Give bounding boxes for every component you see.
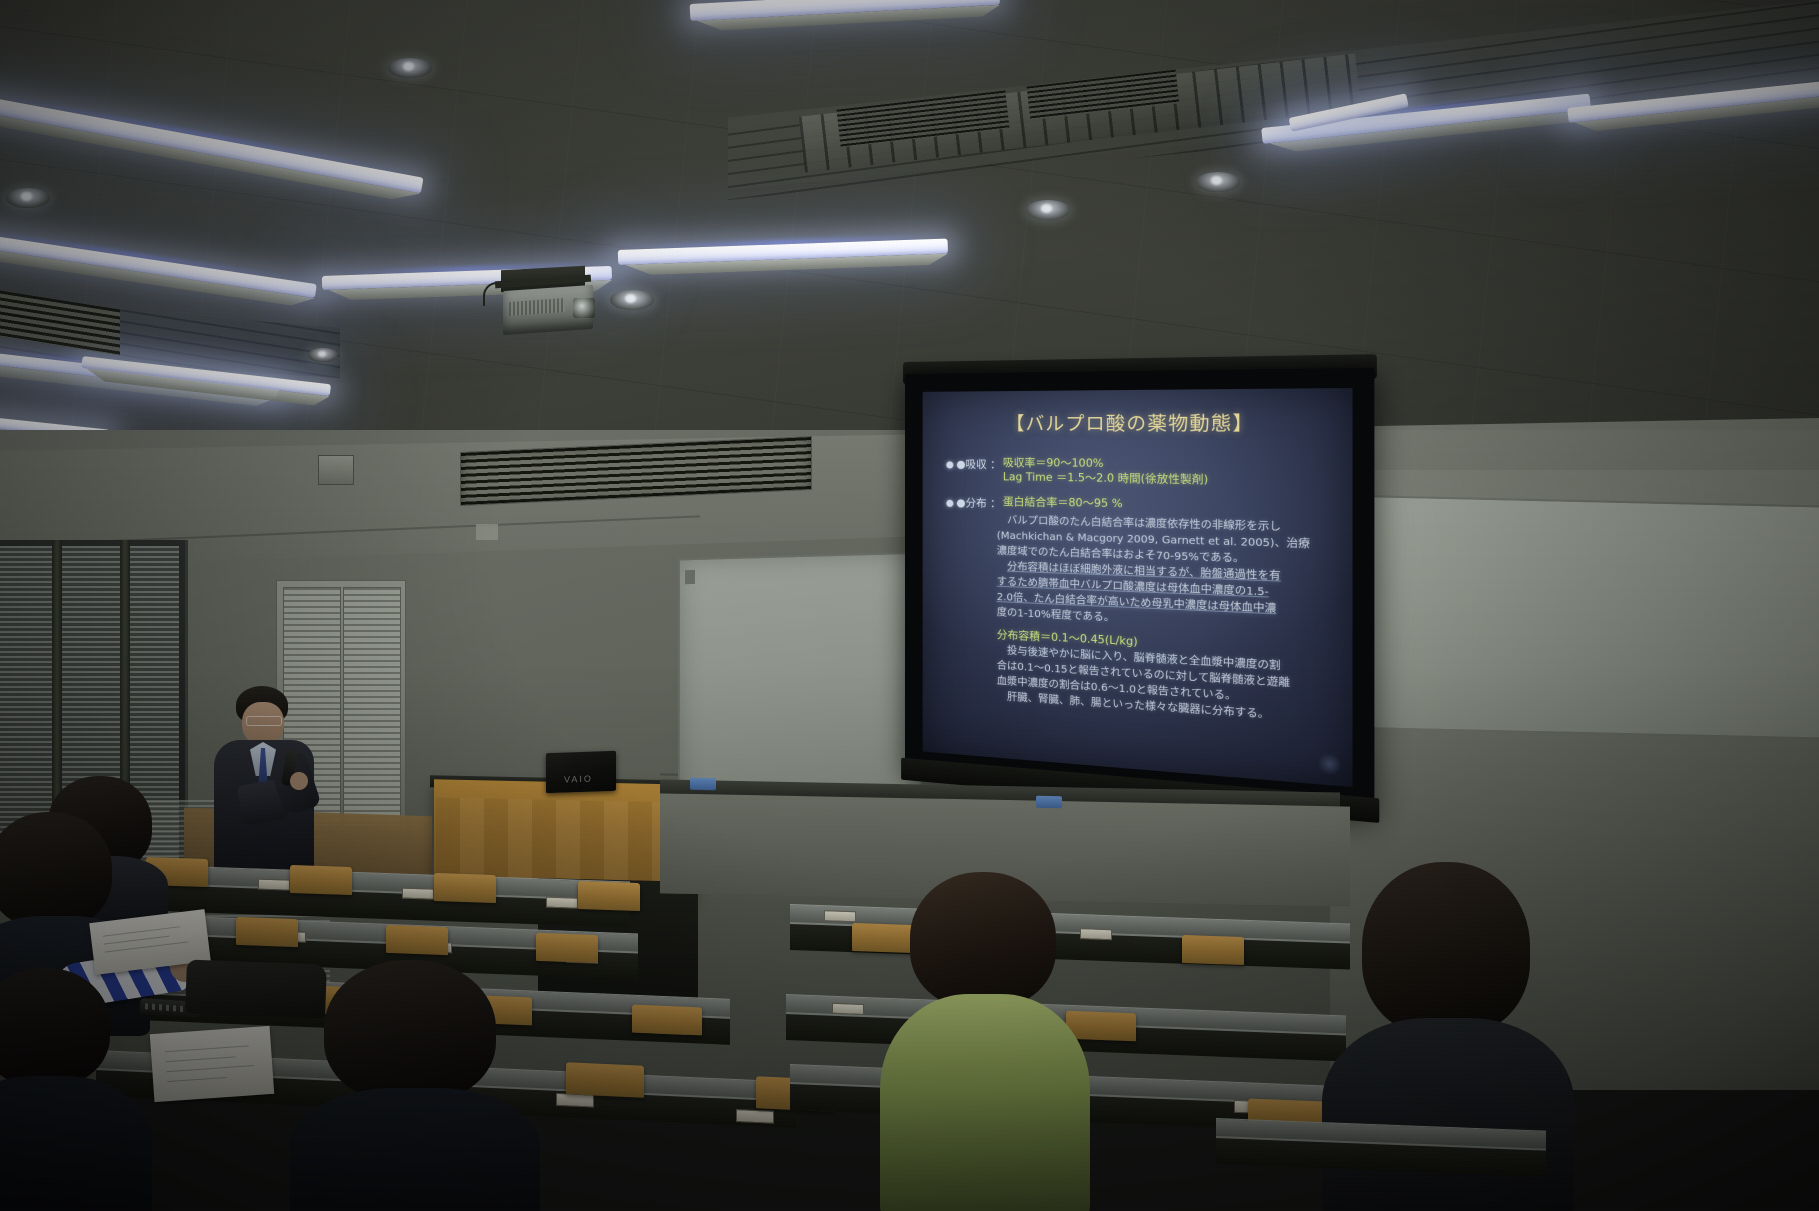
bullet-values-distribution: 蛋白結合率＝80～95 % bbox=[1003, 495, 1123, 512]
desk-nameplate bbox=[832, 1003, 864, 1015]
lecture-hall-photo: 【バルプロ酸の薬物動態】 ●吸収 ： 吸収率＝90～100% Lag Time … bbox=[0, 0, 1819, 1211]
absorption-lagtime: Lag Time ＝1.5～2.0 時間(徐放性製剤) bbox=[1003, 471, 1208, 488]
protein-binding-rate: 蛋白結合率＝80～95 % bbox=[1003, 495, 1123, 512]
laptop-lid bbox=[546, 751, 616, 793]
audience-head bbox=[910, 872, 1056, 1008]
recessed-downlight-2 bbox=[6, 188, 50, 208]
whiteboard-right bbox=[1340, 495, 1819, 740]
audience-head bbox=[0, 812, 112, 928]
desk-nameplate bbox=[546, 897, 578, 909]
recessed-downlight-1 bbox=[388, 58, 432, 78]
presenter bbox=[206, 686, 326, 871]
audience-head bbox=[324, 960, 496, 1102]
projector-lens-icon bbox=[573, 298, 595, 318]
slide-corner-mark bbox=[1316, 753, 1342, 775]
presenter-hand bbox=[290, 772, 308, 790]
desk-nameplate bbox=[824, 910, 856, 922]
seat[interactable] bbox=[386, 925, 448, 955]
audience-torso bbox=[290, 1088, 540, 1211]
bullet-dot-icon bbox=[946, 461, 953, 468]
bullet-values-absorption: 吸収率＝90～100% Lag Time ＝1.5～2.0 時間(徐放性製剤) bbox=[1003, 457, 1208, 488]
seat[interactable] bbox=[290, 865, 352, 895]
wall-plate bbox=[476, 524, 498, 540]
audience-member bbox=[886, 872, 1086, 1211]
seat[interactable] bbox=[566, 1062, 644, 1098]
audience-torso bbox=[880, 994, 1090, 1211]
ceiling-light-8 bbox=[690, 0, 1000, 21]
whiteboard-hook bbox=[685, 570, 695, 584]
desk-nameplate bbox=[258, 879, 290, 891]
desk-nameplate bbox=[736, 1109, 774, 1124]
paper-line bbox=[166, 1065, 254, 1072]
presentation-slide: 【バルプロ酸の薬物動態】 ●吸収 ： 吸収率＝90～100% Lag Time … bbox=[923, 388, 1353, 787]
slide-title: 【バルプロ酸の薬物動態】 bbox=[923, 408, 1353, 437]
bullet-label-absorption: ●吸収 ： bbox=[956, 456, 1003, 472]
paper-line bbox=[167, 1077, 227, 1082]
recessed-downlight-5 bbox=[1196, 172, 1240, 192]
slide-body: ●吸収 ： 吸収率＝90～100% Lag Time ＝1.5～2.0 時間(徐… bbox=[946, 456, 1335, 726]
recessed-downlight-6 bbox=[308, 348, 338, 362]
desk-row-e-right bbox=[1216, 1118, 1546, 1187]
projection-screen: 【バルプロ酸の薬物動態】 ●吸収 ： 吸収率＝90～100% Lag Time … bbox=[905, 361, 1374, 837]
seat[interactable] bbox=[578, 881, 640, 911]
glasses-icon bbox=[246, 716, 282, 726]
bullet-dot-icon-2 bbox=[946, 499, 953, 506]
seat[interactable] bbox=[236, 917, 298, 947]
audience-member bbox=[300, 960, 520, 1211]
paper-line bbox=[165, 1045, 249, 1052]
seat[interactable] bbox=[434, 873, 496, 903]
counter-clip-2 bbox=[1036, 796, 1062, 808]
paper-line bbox=[105, 941, 188, 952]
paper-line bbox=[166, 1056, 236, 1062]
audience-head bbox=[1362, 862, 1530, 1036]
audience-head bbox=[0, 968, 110, 1086]
projector-icon bbox=[477, 268, 609, 340]
paper-line bbox=[104, 936, 170, 945]
recessed-downlight-3 bbox=[610, 290, 654, 310]
recessed-downlight-4 bbox=[1026, 200, 1070, 220]
seat[interactable] bbox=[1182, 935, 1244, 965]
laptop[interactable]: VAIO bbox=[546, 751, 616, 797]
slide-paragraph-block-1: バルプロ酸のたん白結合率は濃度依存性の非線形を示し (Machkichan & … bbox=[997, 514, 1336, 636]
laptop-brand-label: VAIO bbox=[564, 773, 598, 784]
desk-nameplate bbox=[402, 888, 434, 900]
seat[interactable] bbox=[536, 933, 598, 963]
wall-control-panel[interactable] bbox=[318, 455, 354, 485]
audience-member bbox=[0, 968, 140, 1211]
seat[interactable] bbox=[632, 1005, 702, 1036]
cabinet-door-right[interactable] bbox=[343, 587, 401, 827]
counter-clip-1 bbox=[690, 778, 716, 790]
handout-paper bbox=[150, 1026, 274, 1102]
slide-bullet-absorption: ●吸収 ： 吸収率＝90～100% Lag Time ＝1.5～2.0 時間(徐… bbox=[946, 456, 1335, 490]
bullet-label-distribution: ●分布 ： bbox=[956, 495, 1003, 511]
audience-torso bbox=[0, 1076, 152, 1211]
